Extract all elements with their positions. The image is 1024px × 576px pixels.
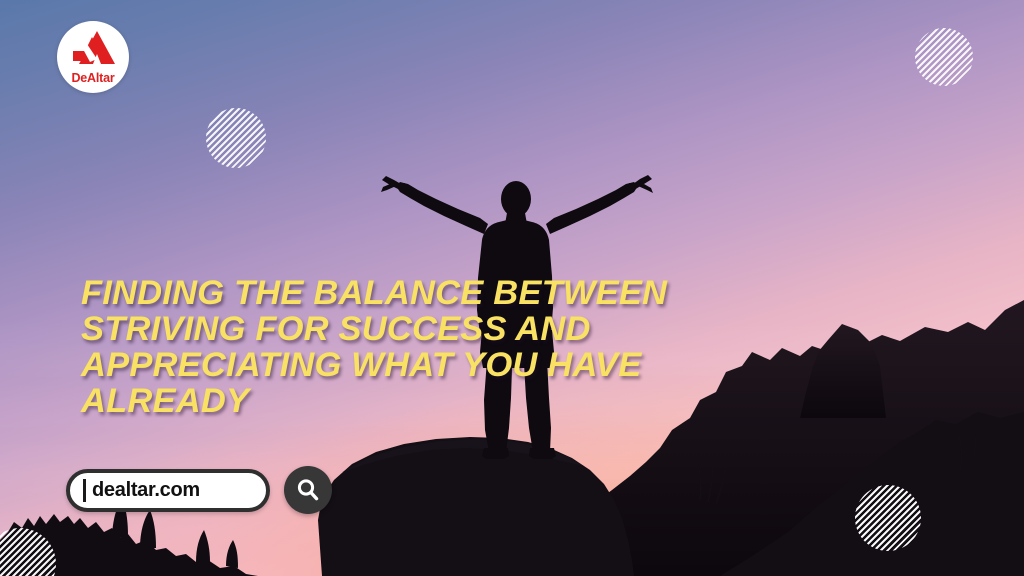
text-caret-icon bbox=[83, 479, 86, 502]
mountain-peak-icon bbox=[70, 31, 116, 65]
search-button[interactable] bbox=[284, 466, 332, 514]
url-search-row: dealtar.com bbox=[66, 466, 332, 514]
headline-line-3: APPRECIATING WHAT YOU HAVE bbox=[81, 348, 781, 384]
headline-line-1: FINDING THE BALANCE BETWEEN bbox=[81, 276, 781, 312]
url-bar[interactable]: dealtar.com bbox=[66, 469, 270, 512]
logo-inner: DeAltar bbox=[64, 28, 122, 86]
logo-wordmark: DeAltar bbox=[64, 72, 122, 85]
url-text: dealtar.com bbox=[92, 480, 200, 500]
brand-logo[interactable]: DeAltar bbox=[57, 21, 129, 93]
social-banner: DeAltar FINDING THE BALANCE BETWEEN STRI… bbox=[0, 0, 1024, 576]
headline-line-2: STRIVING FOR SUCCESS AND bbox=[81, 312, 781, 348]
headline-line-4: ALREADY bbox=[81, 384, 781, 420]
headline: FINDING THE BALANCE BETWEEN STRIVING FOR… bbox=[81, 276, 781, 420]
search-icon bbox=[295, 477, 321, 503]
